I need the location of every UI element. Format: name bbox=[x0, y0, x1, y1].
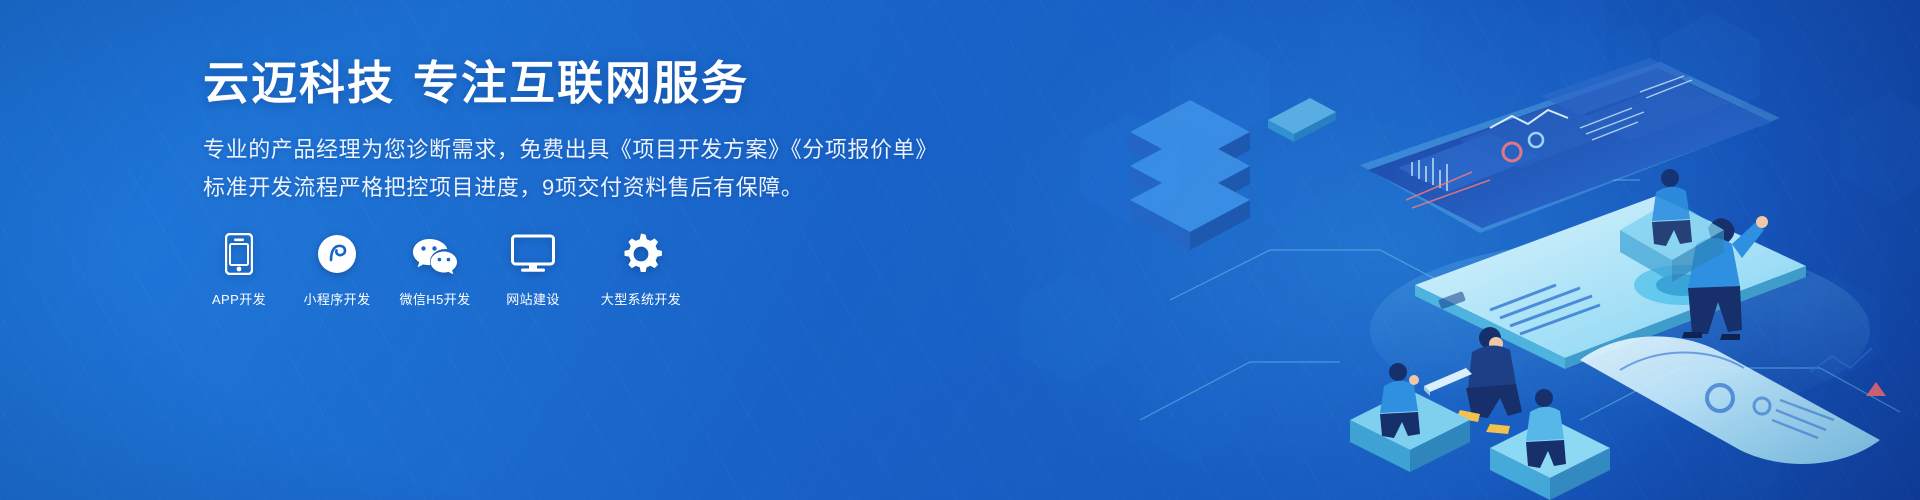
hero-banner: 云迈科技 专注互联网服务 专业的产品经理为您诊断需求，免费出具《项目开发方案》《… bbox=[0, 0, 1920, 500]
service-list: APP开发 小程序开发 微信 bbox=[203, 232, 713, 308]
mini-program-icon bbox=[317, 232, 357, 276]
service-label: 大型系统开发 bbox=[601, 289, 681, 308]
service-label: APP开发 bbox=[212, 289, 266, 308]
subtitle-line-2: 标准开发流程严格把控项目进度，9项交付资料售后有保障。 bbox=[203, 170, 963, 206]
gear-icon bbox=[620, 232, 662, 276]
service-item-mini-program[interactable]: 小程序开发 bbox=[301, 232, 373, 308]
mobile-phone-icon bbox=[225, 232, 253, 276]
wechat-icon bbox=[412, 232, 458, 276]
service-label: 小程序开发 bbox=[303, 289, 370, 308]
hero-illustration bbox=[1020, 0, 1920, 500]
subtitle-line-1: 专业的产品经理为您诊断需求，免费出具《项目开发方案》《分项报价单》 bbox=[203, 132, 963, 168]
floating-card bbox=[1268, 98, 1336, 142]
service-item-website[interactable]: 网站建设 bbox=[497, 232, 569, 308]
hero-copy: 云迈科技 专注互联网服务 专业的产品经理为您诊断需求，免费出具《项目开发方案》《… bbox=[203, 60, 963, 206]
page-title: 云迈科技 专注互联网服务 bbox=[203, 60, 963, 106]
service-item-wechat-h5[interactable]: 微信H5开发 bbox=[399, 232, 471, 308]
service-label: 网站建设 bbox=[506, 289, 560, 308]
service-label: 微信H5开发 bbox=[399, 289, 470, 308]
service-item-large-system[interactable]: 大型系统开发 bbox=[595, 232, 687, 308]
monitor-icon bbox=[511, 232, 555, 276]
server-stack bbox=[1130, 100, 1250, 250]
service-item-app[interactable]: APP开发 bbox=[203, 232, 275, 308]
